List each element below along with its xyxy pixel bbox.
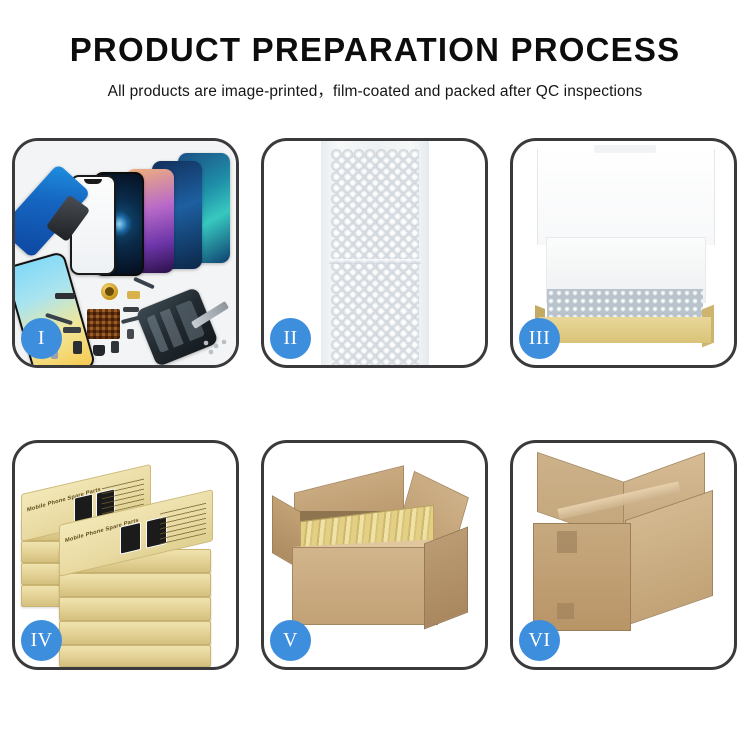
step-badge: I bbox=[21, 318, 62, 359]
box-spec-lines bbox=[160, 502, 206, 545]
wrap-seal-icon bbox=[329, 259, 421, 264]
component-icon bbox=[55, 293, 75, 299]
carton-front-face-icon bbox=[533, 523, 631, 631]
page-subtitle: All products are image-printed，film-coat… bbox=[0, 79, 750, 101]
step-badge: III bbox=[519, 318, 560, 359]
page-title: PRODUCT PREPARATION PROCESS bbox=[0, 33, 750, 68]
component-icon bbox=[63, 327, 81, 333]
component-icon bbox=[93, 345, 105, 356]
process-step-panel-4: Mobile Phone Spare Parts Mobile Phone Sp… bbox=[12, 440, 239, 670]
process-step-panel-1: I bbox=[12, 138, 239, 368]
page-header: PRODUCT PREPARATION PROCESS All products… bbox=[0, 0, 750, 101]
carton-front-face-icon bbox=[292, 547, 438, 625]
step-badge: V bbox=[270, 620, 311, 661]
process-step-grid: I II III bbox=[12, 138, 738, 670]
component-icon bbox=[73, 341, 82, 354]
process-step-panel-3: III bbox=[510, 138, 737, 368]
component-icon bbox=[111, 341, 119, 353]
carton-side-face-icon bbox=[424, 527, 468, 630]
copper-coil-icon bbox=[101, 283, 118, 300]
component-icon bbox=[127, 329, 134, 339]
process-step-panel-6: VI bbox=[510, 440, 737, 670]
step-badge: IV bbox=[21, 620, 62, 661]
box-lid-icon bbox=[537, 149, 715, 245]
box-front-icon bbox=[539, 317, 711, 343]
carton-flap-seam-icon bbox=[557, 603, 574, 619]
component-icon bbox=[127, 291, 140, 299]
screws-icon bbox=[202, 339, 228, 355]
step-badge: VI bbox=[519, 620, 560, 661]
screw-tray-icon bbox=[87, 309, 120, 339]
process-step-panel-2: II bbox=[261, 138, 488, 368]
step-badge: II bbox=[270, 318, 311, 359]
process-step-panel-5: V bbox=[261, 440, 488, 670]
carton-flap-seam-icon bbox=[557, 531, 577, 553]
component-icon bbox=[123, 307, 139, 312]
box-phone-image-icon bbox=[120, 522, 141, 555]
